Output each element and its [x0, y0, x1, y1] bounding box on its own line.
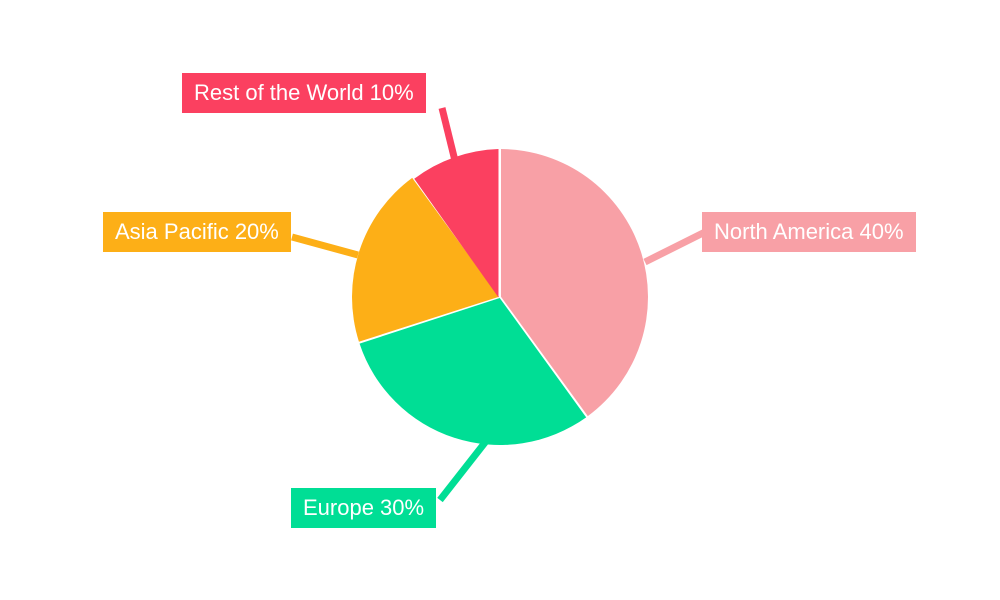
- leader-line-europe: [440, 440, 487, 500]
- leader-line-north-america: [645, 232, 705, 262]
- pie-label-rest-of-world-text: Rest of the World 10%: [194, 82, 414, 104]
- pie-chart-canvas: [0, 0, 1000, 600]
- pie-label-asia-pacific-text: Asia Pacific 20%: [115, 221, 279, 243]
- pie-slices: [352, 149, 648, 445]
- pie-label-rest-of-world[interactable]: Rest of the World 10%: [182, 73, 426, 113]
- pie-label-europe-text: Europe 30%: [303, 497, 424, 519]
- pie-label-north-america[interactable]: North America 40%: [702, 212, 916, 252]
- pie-label-europe[interactable]: Europe 30%: [291, 488, 436, 528]
- pie-label-asia-pacific[interactable]: Asia Pacific 20%: [103, 212, 291, 252]
- leader-line-asia-pacific: [292, 237, 358, 255]
- pie-chart: North America 40% Europe 30% Asia Pacifi…: [0, 0, 1000, 600]
- pie-label-north-america-text: North America 40%: [714, 221, 904, 243]
